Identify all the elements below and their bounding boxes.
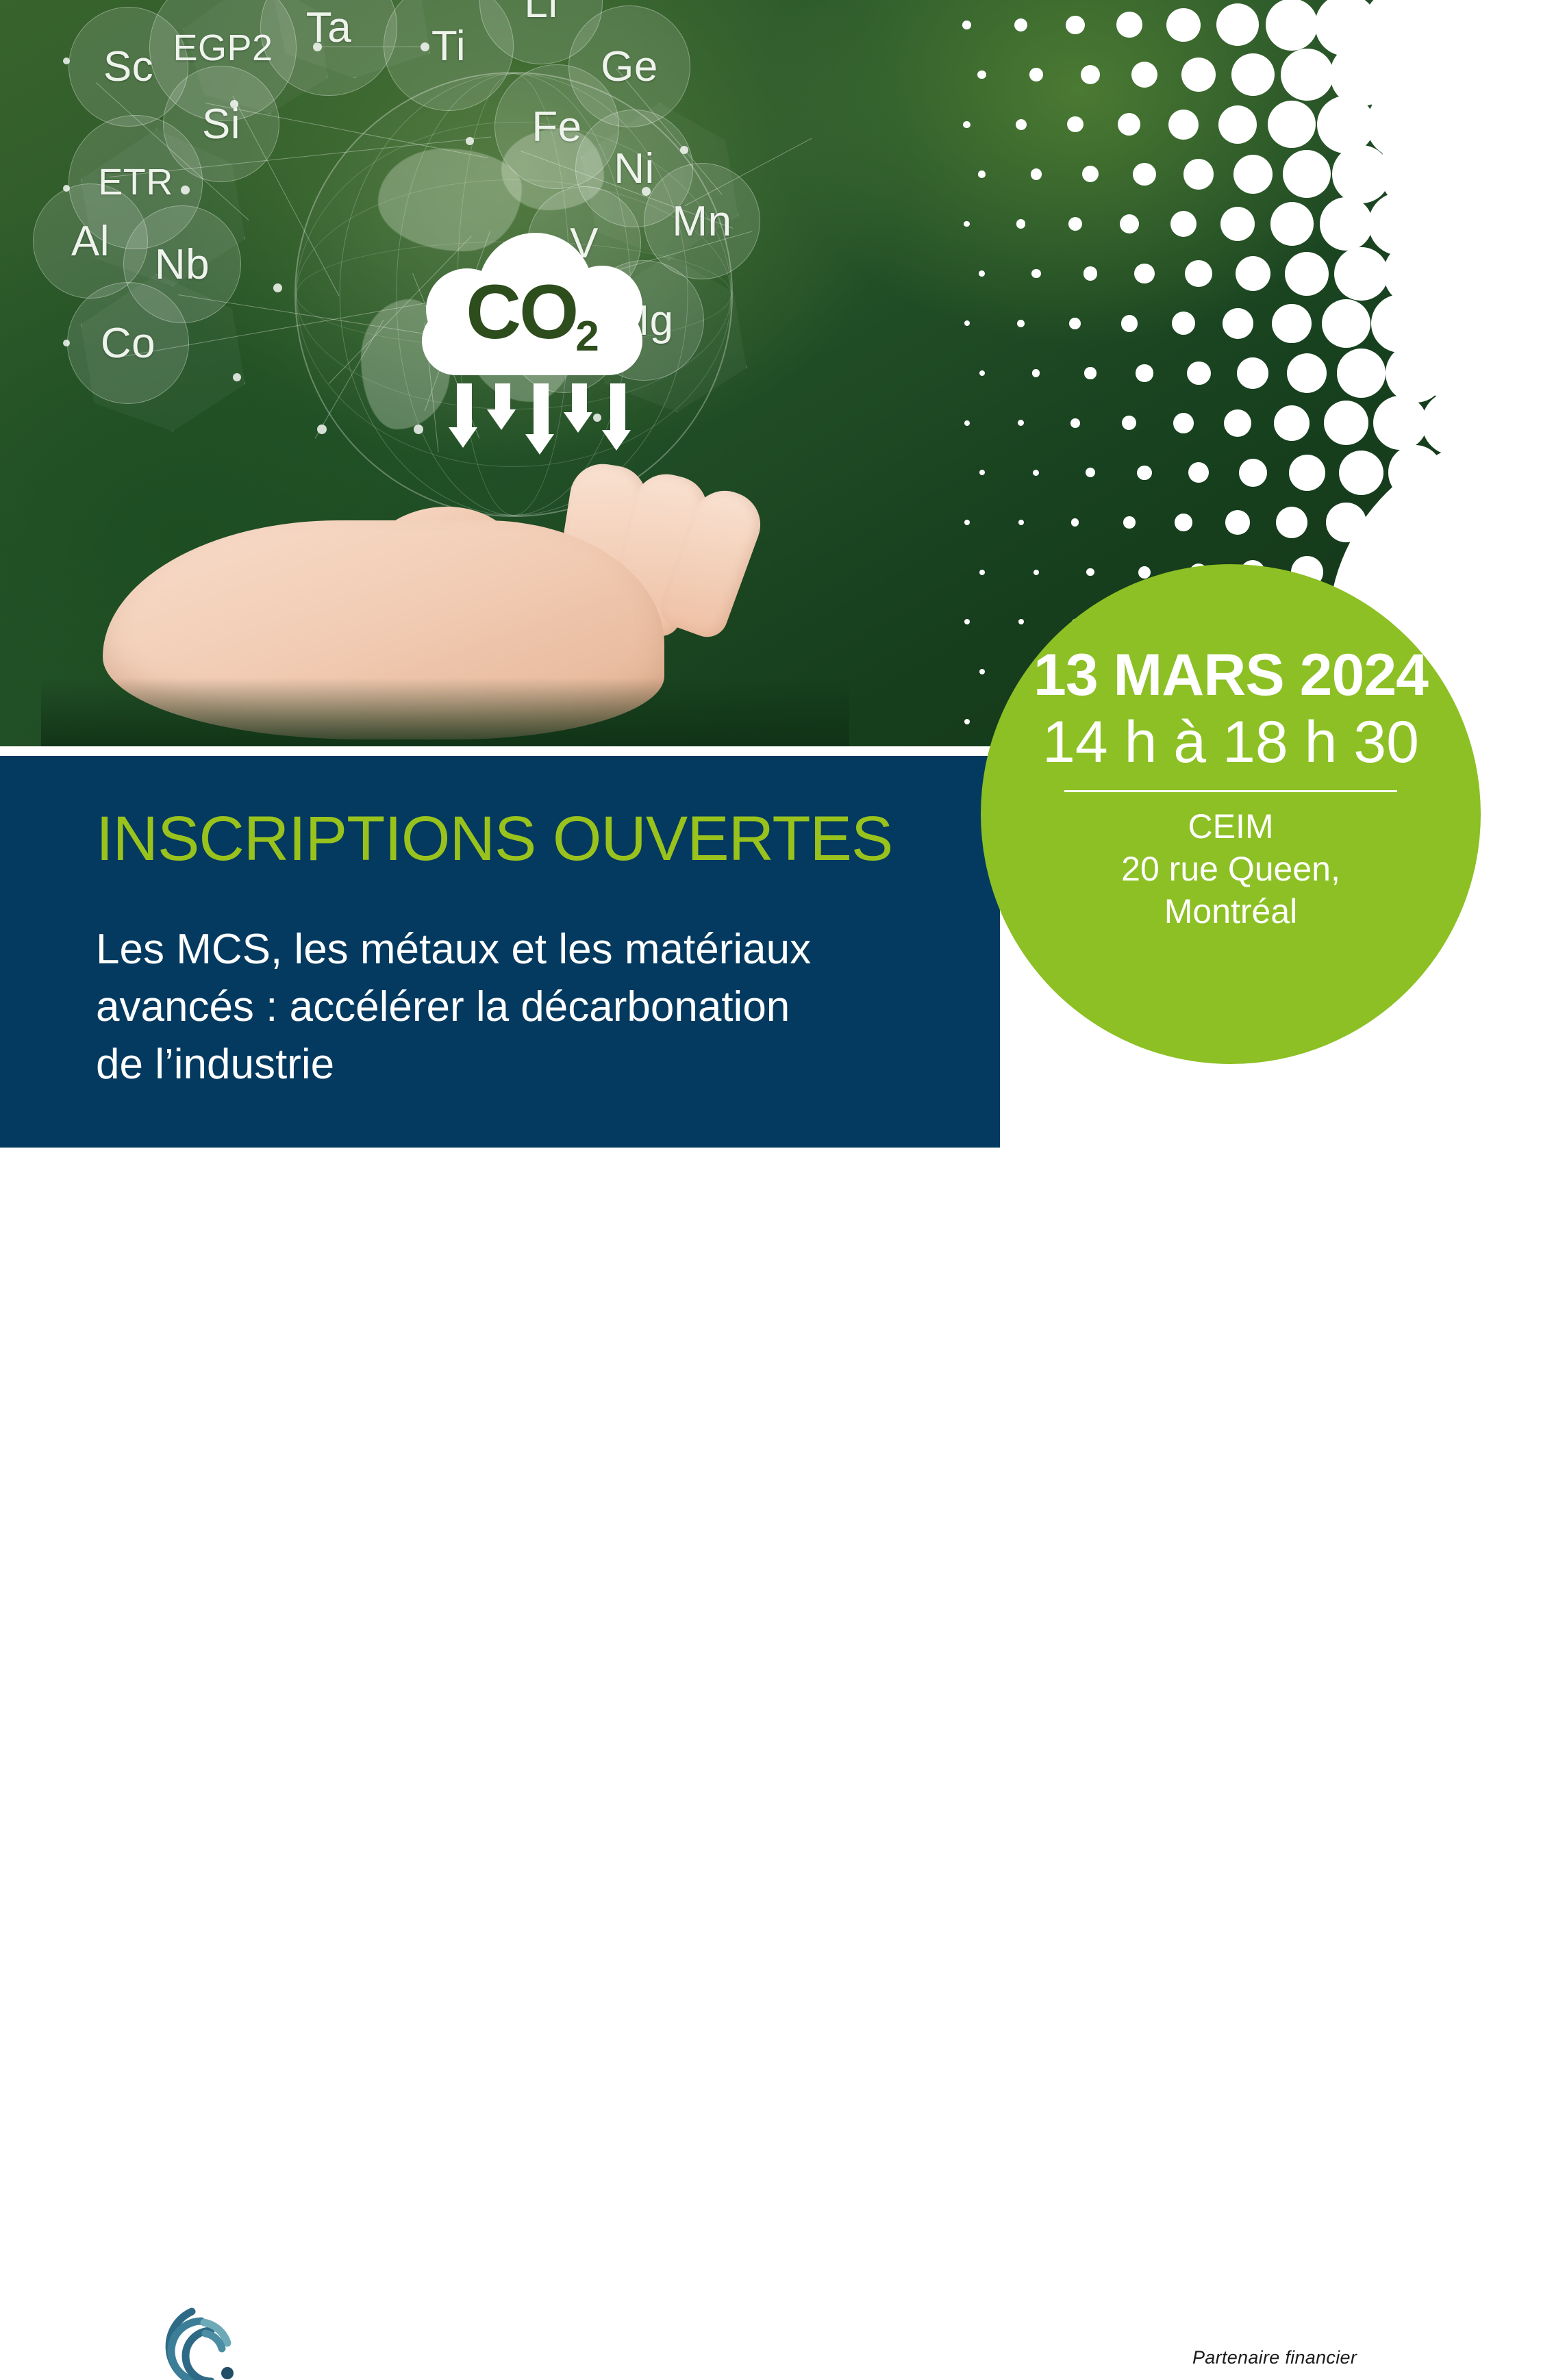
halftone-dot	[1018, 520, 1024, 525]
halftone-dot	[1281, 49, 1333, 101]
page-title: INSCRIPTIONS OUVERTES	[96, 806, 892, 872]
halftone-dot	[1268, 101, 1315, 148]
halftone-dot	[1134, 264, 1154, 283]
halftone-dot	[1225, 510, 1249, 534]
halftone-dot	[1032, 369, 1040, 377]
halftone-dot	[1276, 507, 1307, 538]
element-bubble-co: Co	[67, 282, 189, 404]
halftone-dot	[1029, 68, 1043, 81]
halftone-dot	[1017, 320, 1025, 327]
halftone-dot	[1136, 364, 1153, 381]
halftone-dot	[1283, 150, 1331, 198]
halftone-dot	[1175, 514, 1192, 531]
halftone-dot	[964, 320, 970, 326]
halftone-dot	[1188, 462, 1209, 483]
halftone-dot	[1116, 12, 1142, 38]
halftone-dot	[1183, 159, 1214, 190]
event-date: 13 MARS 2024	[981, 644, 1481, 707]
halftone-dot	[1138, 566, 1151, 579]
halftone-dot	[1118, 113, 1140, 136]
halftone-dot	[964, 719, 970, 724]
halftone-dot	[1339, 451, 1384, 496]
halftone-dot	[979, 270, 985, 277]
halftone-dot	[1324, 401, 1368, 445]
halftone-dot	[1018, 420, 1024, 426]
halftone-dot	[1236, 256, 1270, 291]
halftone-dot	[1172, 312, 1195, 335]
halftone-dot	[1131, 62, 1157, 88]
halftone-dot	[1285, 252, 1329, 296]
halftone-dot	[979, 370, 985, 376]
halftone-dot	[1069, 318, 1081, 329]
halftone-dot	[1168, 110, 1199, 140]
halftone-dot	[1122, 416, 1136, 430]
event-time: 14 h à 18 h 30	[981, 709, 1481, 775]
halftone-dot	[1068, 217, 1082, 231]
halftone-dot	[1137, 466, 1151, 480]
halftone-dot	[1033, 570, 1039, 575]
co2-cloud-icon: CO2	[419, 233, 645, 380]
element-bubble-mn: Mn	[644, 163, 760, 279]
halftone-dot	[1287, 353, 1327, 393]
halftone-dot	[1224, 409, 1251, 437]
halftone-dot	[1084, 367, 1096, 379]
halftone-dot	[1320, 197, 1373, 250]
halftone-dot	[1086, 468, 1095, 477]
halftone-dot	[979, 470, 985, 475]
halftone-dot	[1237, 357, 1268, 389]
halftone-dot	[1066, 16, 1085, 35]
halftone-dot	[978, 170, 986, 178]
venue-name: CEIM	[981, 805, 1481, 848]
footer: Partenaire financier	[0, 1148, 1541, 1232]
halftone-dot	[1322, 299, 1370, 348]
halftone-dot	[1170, 211, 1197, 238]
halftone-dot	[1223, 308, 1253, 339]
halftone-dot	[1231, 53, 1275, 97]
halftone-dot	[1070, 418, 1080, 428]
halftone-dot	[1337, 349, 1386, 398]
halftone-dot	[964, 420, 970, 426]
halftone-dot	[1373, 396, 1427, 450]
halftone-dot	[977, 71, 986, 79]
halftone-dot	[1123, 516, 1135, 528]
halftone-dot	[1016, 219, 1025, 228]
halftone-dot	[1031, 269, 1040, 278]
halftone-dot	[1187, 362, 1211, 385]
halftone-dot	[1067, 116, 1083, 133]
partner-label: Partenaire financier	[1192, 2347, 1357, 2368]
halftone-dot	[1272, 304, 1311, 343]
halftone-dot	[1239, 459, 1267, 487]
halftone-dot	[1270, 202, 1314, 245]
halftone-dot	[963, 121, 970, 128]
halftone-dot	[1289, 455, 1325, 491]
halftone-dot	[1216, 3, 1259, 46]
halftone-dot	[1031, 168, 1042, 179]
halftone-dot	[1185, 260, 1212, 288]
ceim-arcs-logo-icon	[156, 2305, 286, 2380]
halftone-dot	[1173, 413, 1194, 433]
halftone-dot	[964, 221, 970, 227]
halftone-dot	[1274, 405, 1310, 441]
subtitle-line-2: avancés : accélérer la décarbonation	[96, 978, 952, 1036]
venue-street: 20 rue Queen,	[981, 848, 1481, 890]
halftone-dot	[964, 619, 970, 624]
halftone-dot	[1181, 58, 1216, 92]
subtitle-line-3: de l’industrie	[96, 1036, 952, 1093]
halftone-dot	[1218, 105, 1257, 144]
event-subtitle: Les MCS, les métaux et les matériaux ava…	[96, 921, 952, 1093]
halftone-dot	[962, 21, 971, 29]
halftone-dot	[1083, 266, 1097, 280]
halftone-dot	[1016, 119, 1027, 130]
halftone-dot	[1018, 619, 1024, 624]
halftone-dot	[1334, 247, 1388, 301]
co2-label: CO2	[419, 274, 645, 351]
halftone-dot	[1081, 65, 1100, 84]
halftone-dot	[1082, 166, 1099, 182]
subtitle-line-1: Les MCS, les métaux et les matériaux	[96, 921, 952, 978]
halftone-dot	[1120, 214, 1140, 234]
halftone-dot	[1166, 8, 1200, 42]
open-hand-photo	[41, 479, 767, 746]
halftone-dot	[1266, 0, 1318, 51]
halftone-dot	[1133, 163, 1156, 186]
venue-city: Montréal	[981, 890, 1481, 933]
halftone-dot	[1121, 315, 1138, 332]
event-venue: CEIM 20 rue Queen, Montréal	[981, 805, 1481, 933]
halftone-dot	[1233, 155, 1273, 194]
event-details-badge: 13 MARS 2024 14 h à 18 h 30 CEIM 20 rue …	[981, 564, 1481, 1064]
halftone-dot	[1220, 207, 1255, 241]
badge-divider	[1064, 790, 1397, 792]
halftone-dot	[1071, 518, 1079, 526]
co2-subscript: 2	[575, 313, 597, 360]
halftone-dot	[979, 570, 985, 575]
halftone-dot	[964, 520, 970, 525]
halftone-dot	[1033, 470, 1039, 476]
halftone-dot	[1014, 18, 1027, 31]
halftone-dot	[1086, 568, 1094, 577]
